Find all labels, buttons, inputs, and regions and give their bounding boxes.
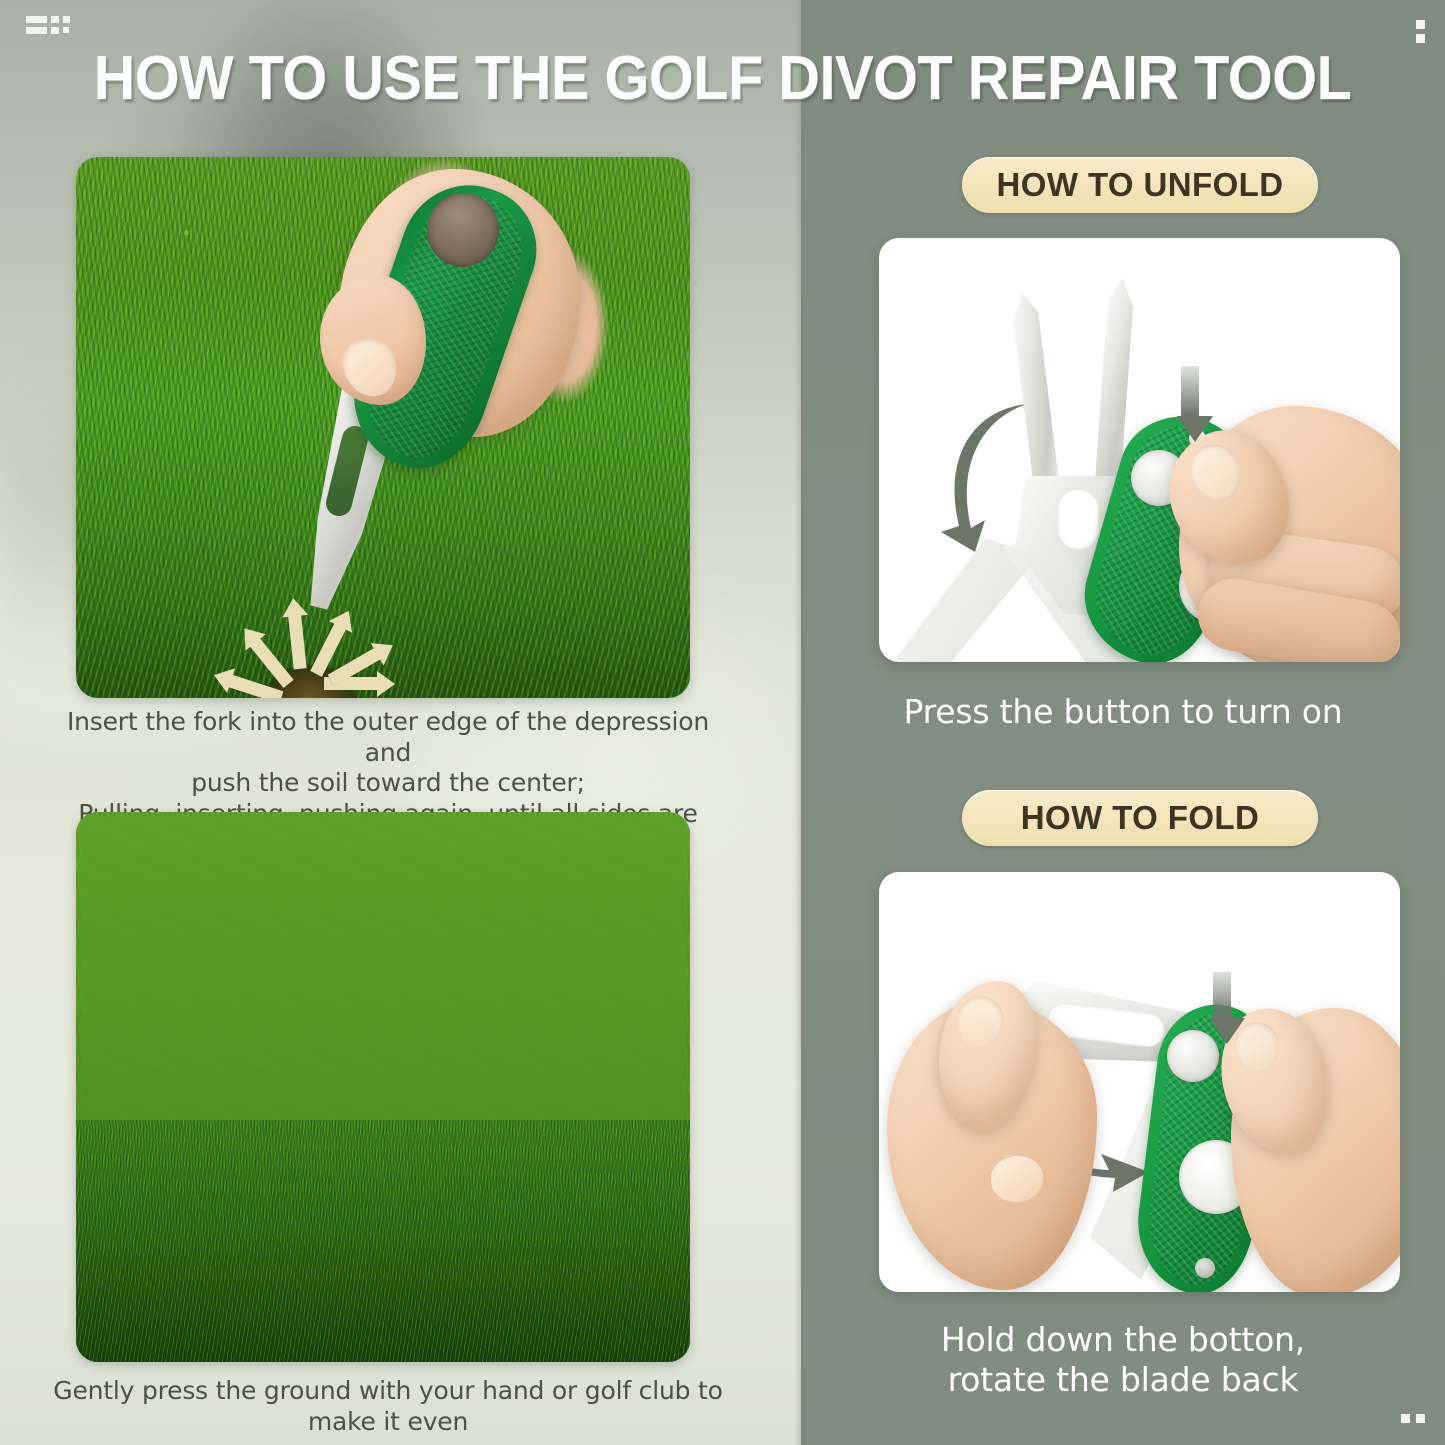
- handle-screw: [1195, 1258, 1215, 1278]
- repaired-green-grass-photo: [76, 812, 690, 1362]
- infographic-page: HOW TO USE THE GOLF DIVOT REPAIR TOOL In…: [0, 0, 1445, 1445]
- grass-foreground-blades: [76, 1120, 690, 1362]
- caption-line: rotate the blade back: [801, 1360, 1445, 1400]
- caption-line: Gently press the ground with your hand o…: [48, 1376, 728, 1407]
- dash-dot-grid-icon: [26, 16, 70, 38]
- caption-fold: Hold down the botton, rotate the blade b…: [801, 1320, 1445, 1401]
- divot-repair-in-grass-photo: [76, 157, 690, 698]
- caption-line: push the soil toward the center;: [48, 768, 728, 799]
- unfold-tool-photo: [879, 238, 1400, 662]
- badge-how-to-fold: HOW TO FOLD: [962, 790, 1318, 846]
- caption-step-2: Gently press the ground with your hand o…: [48, 1376, 728, 1437]
- press-down-arrow-icon: [1177, 366, 1203, 442]
- fold-tool-photo: [879, 872, 1400, 1292]
- press-down-arrow-icon: [1209, 972, 1235, 1044]
- two-squares-horizontal-icon: [1401, 1414, 1425, 1423]
- caption-line: make it even: [48, 1407, 728, 1438]
- caption-line: Hold down the botton,: [801, 1320, 1445, 1360]
- page-title: HOW TO USE THE GOLF DIVOT REPAIR TOOL: [51, 48, 1395, 110]
- grass-blurred-background: [76, 812, 690, 1142]
- fork-hole: [1057, 488, 1099, 550]
- two-squares-vertical-icon: [1416, 20, 1425, 48]
- badge-how-to-unfold: HOW TO UNFOLD: [962, 157, 1318, 213]
- caption-line: Press the button to turn on: [801, 692, 1445, 732]
- caption-line: Insert the fork into the outer edge of t…: [48, 707, 728, 768]
- caption-unfold: Press the button to turn on: [801, 692, 1445, 732]
